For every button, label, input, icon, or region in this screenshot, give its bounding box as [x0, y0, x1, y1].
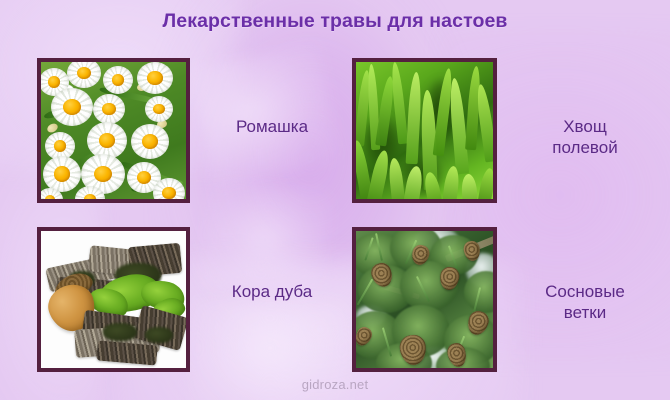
photo-frame-horsetail	[352, 58, 497, 203]
oak-bark-photo	[41, 231, 186, 368]
slide-title: Лекарственные травы для настоев	[0, 10, 670, 33]
pine-branches-photo	[356, 231, 493, 368]
caption-oakbark: Кора дуба	[196, 281, 348, 302]
caption-chamomile: Ромашка	[196, 116, 348, 137]
background-wash-paper-1	[189, 43, 341, 187]
caption-pine: Сосновые ветки	[505, 281, 665, 323]
photo-frame-pine	[352, 227, 497, 372]
chamomile-photo	[41, 62, 186, 199]
caption-horsetail: Хвощ полевой	[505, 116, 665, 158]
watermark: gidroza.net	[0, 377, 670, 392]
slide-canvas: Лекарственные травы для настоев	[0, 0, 670, 400]
photo-frame-chamomile	[37, 58, 190, 203]
photo-frame-oakbark	[37, 227, 190, 372]
horsetail-photo	[356, 62, 493, 199]
